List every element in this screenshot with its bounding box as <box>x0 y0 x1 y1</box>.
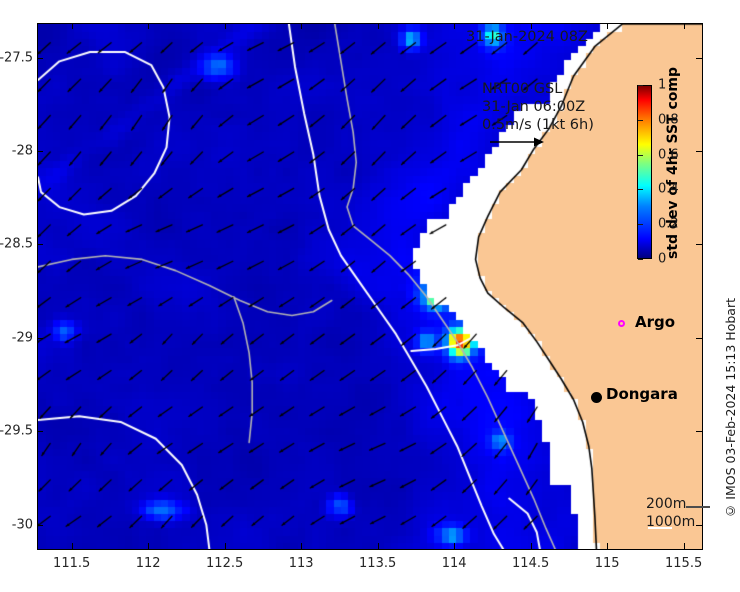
y-tick-label: -28 <box>12 144 33 159</box>
argo-label: Argo <box>635 313 675 331</box>
x-tick-mark <box>531 543 532 549</box>
vector-scale-label: 0.5m/s (1kt 6h) <box>482 116 594 134</box>
x-tick-mark <box>148 543 149 549</box>
reference-arrow-icon <box>488 134 558 150</box>
colorbar-tick-mark <box>638 120 643 121</box>
x-tick-mark <box>454 543 455 549</box>
x-tick-mark <box>531 23 532 29</box>
vector-time-label: 31-Jan 06:00Z <box>482 98 594 116</box>
y-tick-mark <box>37 338 43 339</box>
x-tick-label: 114 <box>442 556 467 571</box>
date-stamp: 31-Jan-2024 08Z <box>466 29 588 45</box>
argo-marker-icon <box>618 320 625 327</box>
y-tick-mark <box>37 525 43 526</box>
x-tick-mark <box>684 23 685 29</box>
colorbar-tick-mark <box>638 85 643 86</box>
colorbar-tick-mark <box>638 224 643 225</box>
map-overlay-contours-vectors <box>38 24 702 549</box>
x-tick-label: 112.5 <box>206 556 243 571</box>
y-tick-mark <box>37 151 43 152</box>
x-tick-label: 115 <box>595 556 620 571</box>
colorbar-title: std dev of 4hr SST comp <box>665 85 681 259</box>
x-tick-mark <box>607 23 608 29</box>
y-tick-mark <box>696 58 702 59</box>
x-tick-mark <box>225 23 226 29</box>
colorbar-tick-label: 0 <box>658 252 666 267</box>
depth-legend-200m-swatch <box>686 506 710 508</box>
colorbar-tick-label: 0.4 <box>658 182 679 197</box>
dongara-marker-icon <box>591 392 602 403</box>
colorbar-tick-mark <box>638 189 643 190</box>
colorbar-tick-mark <box>638 259 643 260</box>
x-tick-label: 112 <box>136 556 161 571</box>
y-tick-label: -27.5 <box>0 50 33 65</box>
y-tick-label: -29.5 <box>0 424 33 439</box>
x-tick-label: 115.5 <box>665 556 702 571</box>
credit-text: © IMOS 03-Feb-2024 15:13 Hobart <box>723 298 738 519</box>
y-tick-mark <box>696 338 702 339</box>
x-tick-mark <box>454 23 455 29</box>
x-tick-label: 114.5 <box>512 556 549 571</box>
vector-annotation-block: NRT00 GSL 31-Jan 06:00Z 0.5m/s (1kt 6h) <box>482 80 594 150</box>
colorbar-tick-label: 1 <box>658 78 666 93</box>
colorbar <box>637 85 652 259</box>
y-tick-mark <box>696 244 702 245</box>
y-tick-label: -30 <box>12 517 33 532</box>
y-tick-mark <box>696 525 702 526</box>
y-tick-mark <box>696 431 702 432</box>
x-tick-mark <box>378 23 379 29</box>
depth-contour-legend: 200m 1000m <box>646 495 695 531</box>
depth-legend-200m-label: 200m <box>646 495 695 513</box>
x-tick-label: 113 <box>289 556 314 571</box>
x-tick-mark <box>72 543 73 549</box>
x-tick-label: 111.5 <box>53 556 90 571</box>
figure-canvas: 31-Jan-2024 08Z NRT00 GSL 31-Jan 06:00Z … <box>0 0 740 592</box>
y-tick-label: -29 <box>12 330 33 345</box>
x-tick-mark <box>378 543 379 549</box>
x-tick-mark <box>72 23 73 29</box>
y-tick-mark <box>37 431 43 432</box>
x-tick-mark <box>148 23 149 29</box>
vector-source-label: NRT00 GSL <box>482 80 594 98</box>
colorbar-tick-label: 0.2 <box>658 217 679 232</box>
y-tick-mark <box>37 244 43 245</box>
x-tick-mark <box>301 543 302 549</box>
x-tick-mark <box>301 23 302 29</box>
x-tick-mark <box>684 543 685 549</box>
dongara-label: Dongara <box>606 385 678 403</box>
y-tick-label: -28.5 <box>0 237 33 252</box>
colorbar-tick-label: 0.8 <box>658 112 679 127</box>
x-tick-mark <box>225 543 226 549</box>
depth-legend-1000m-swatch <box>648 527 672 529</box>
y-tick-mark <box>37 58 43 59</box>
x-tick-mark <box>607 543 608 549</box>
colorbar-tick-mark <box>638 155 643 156</box>
map-plot-area[interactable] <box>37 23 703 550</box>
colorbar-tick-label: 0.6 <box>658 147 679 162</box>
x-tick-label: 113.5 <box>359 556 396 571</box>
y-tick-mark <box>696 151 702 152</box>
